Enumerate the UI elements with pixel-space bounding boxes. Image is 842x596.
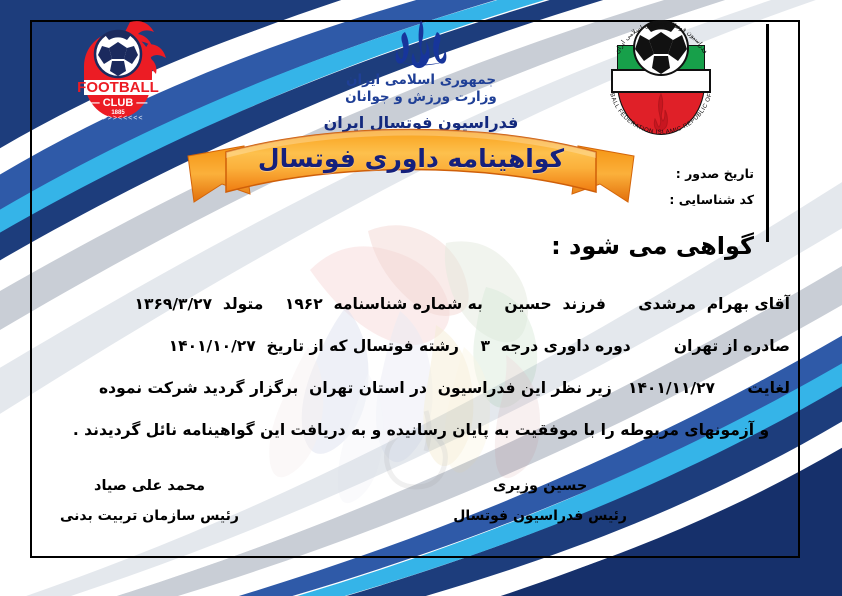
body-line-4: و آزمونهای مربوطه را با موفقیت به پایان … bbox=[52, 409, 790, 451]
body-line-1-text: آقای بهرام مرشدی فرزند حسین به شماره شنا… bbox=[135, 283, 790, 325]
signature-block: حسین وزیری رئیس فدراسیون فوتسال محمد علی… bbox=[60, 478, 627, 524]
certificate-title: کواهینامه داوری فوتسال bbox=[186, 144, 636, 173]
iran-emblem-icon bbox=[392, 18, 450, 70]
body-line-2: صادره از تهران دوره داوری درجه ۳ رشته فو… bbox=[52, 325, 790, 367]
body-line-1: آقای بهرام مرشدی فرزند حسین به شماره شنا… bbox=[52, 283, 790, 325]
football-club-badge-icon: FOOTBALL — CLUB — 1885 >>>>><<<<< bbox=[62, 14, 174, 122]
certificate-body: آقای بهرام مرشدی فرزند حسین به شماره شنا… bbox=[52, 283, 790, 451]
issue-date-label: تاریخ صدور : bbox=[669, 166, 754, 181]
body-line-3: لغایت ۱۴۰۱/۱۱/۲۷ زیر نظر این فدراسیون در… bbox=[52, 367, 790, 409]
certificate-page: جمهوری اسلامی ایران وزارت ورزش و جوانان … bbox=[0, 0, 842, 596]
identification-code-label: کد شناسایی : bbox=[669, 192, 754, 207]
iran-football-federation-crest-icon: فدراسیون فوتبال جمهوری اسلامی ایران FOOT… bbox=[598, 6, 724, 138]
signature-federation: حسین وزیری رئیس فدراسیون فوتسال bbox=[453, 478, 627, 524]
title-ribbon bbox=[186, 128, 636, 228]
certify-heading: گواهی می شود : bbox=[551, 232, 754, 260]
issue-info-block: تاریخ صدور : کد شناسایی : bbox=[669, 166, 754, 218]
signature-role: رئیس سازمان تربیت بدنی bbox=[60, 508, 239, 524]
signature-physical-education: محمد علی صیاد رئیس سازمان تربیت بدنی bbox=[60, 478, 239, 524]
signature-role: رئیس فدراسیون فوتسال bbox=[453, 508, 627, 524]
signature-name: حسین وزیری bbox=[453, 478, 627, 494]
body-line-2-text: صادره از تهران دوره داوری درجه ۳ رشته فو… bbox=[169, 325, 790, 367]
badge-secondary-text: — CLUB — bbox=[89, 97, 148, 109]
signature-name: محمد علی صیاد bbox=[60, 478, 239, 494]
badge-primary-text: FOOTBALL bbox=[77, 79, 159, 96]
body-line-3-text: لغایت ۱۴۰۱/۱۱/۲۷ زیر نظر این فدراسیون در… bbox=[99, 367, 790, 409]
svg-text:>>>>><<<<<: >>>>><<<<< bbox=[93, 115, 144, 122]
